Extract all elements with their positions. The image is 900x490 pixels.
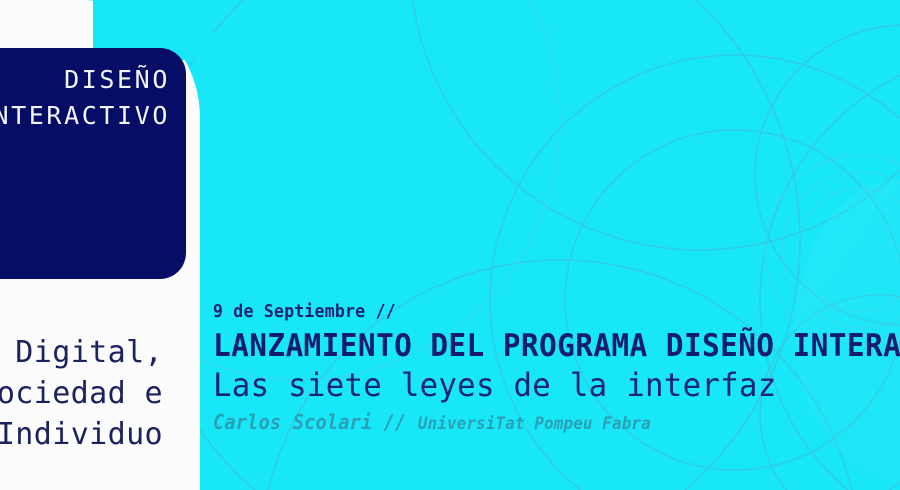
left-headline-line-1: edio Digital, (0, 332, 163, 373)
speaker-affiliation: UniversiTat Pompeu Fabra (418, 414, 651, 434)
poster-banner: DISEÑO INTERACTIVO edio Digital, Socieda… (0, 0, 900, 490)
left-headline-line-2: Sociedad e (0, 373, 163, 414)
event-title: LANZAMIENTO DEL PROGRAMA DISEÑO INTERACT… (213, 327, 897, 366)
brand-card: DISEÑO INTERACTIVO (0, 48, 186, 279)
event-subtitle: Las siete leyes de la interfaz (213, 365, 900, 405)
speaker-name: Carlos Scolari // (213, 410, 418, 434)
event-date: 9 de Septiembre // (213, 300, 875, 324)
left-headline: edio Digital, Sociedad e Individuo (0, 332, 163, 455)
left-headline-line-3: Individuo (0, 414, 163, 455)
brand-line-1: DISEÑO (0, 62, 170, 98)
event-byline: Carlos Scolari // UniversiTat Pompeu Fab… (213, 408, 883, 438)
event-info-block: 9 de Septiembre // LANZAMIENTO DEL PROGR… (213, 300, 900, 438)
brand-line-2: INTERACTIVO (0, 98, 170, 134)
